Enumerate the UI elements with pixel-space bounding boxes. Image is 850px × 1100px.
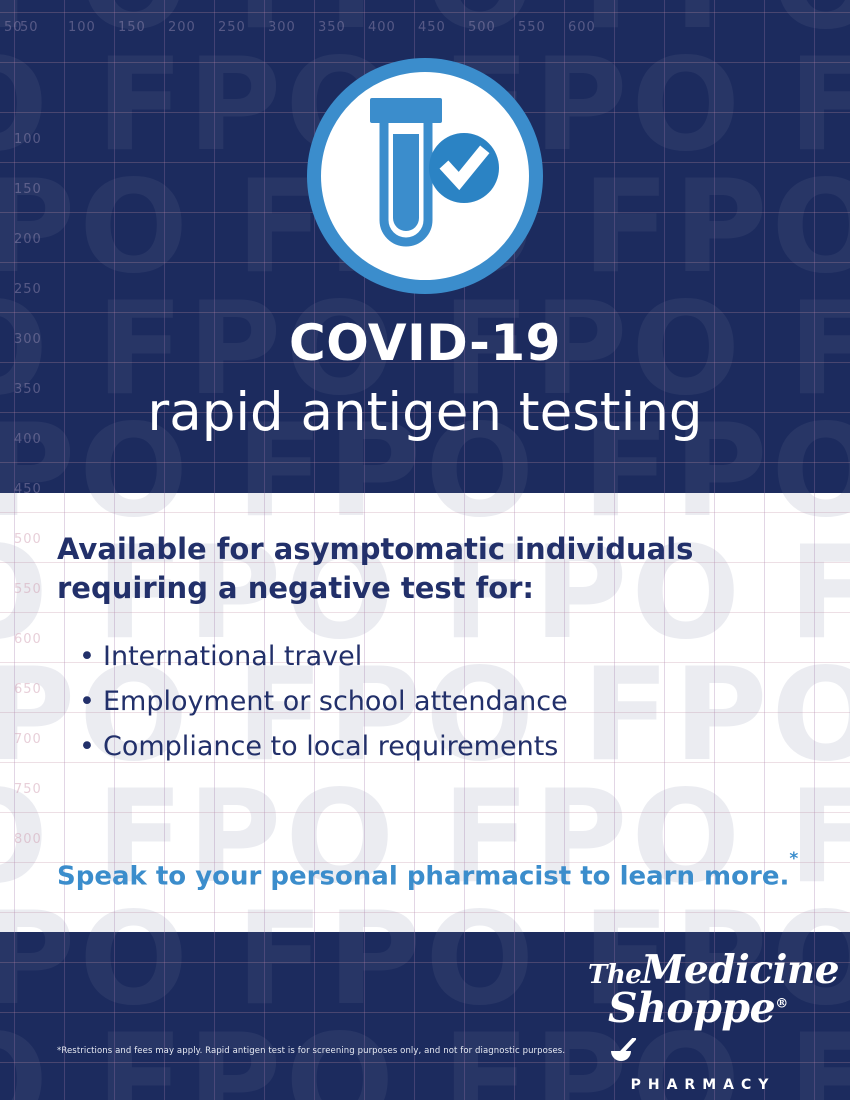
disclaimer-text: *Restrictions and fees may apply. Rapid … [57,1046,565,1056]
poster-canvas: FPOFPOFPOFPOFPOFPOFPOFPOFPOFPOFPOFPOFPOF… [0,0,850,1100]
page-title: COVID-19 [0,318,850,368]
brand-word-shoppe: Shoppe [608,984,775,1032]
bullet-marker-icon: • [79,634,95,679]
eligibility-bullet-list: •International travel•Employment or scho… [57,634,797,770]
list-item-label: Compliance to local requirements [103,731,558,762]
list-item-label: International travel [103,641,362,672]
list-item: •International travel [103,634,797,679]
list-item-label: Employment or school attendance [103,686,568,717]
test-tube-with-check-icon [307,58,543,294]
lead-line-1: Available for asymptomatic individuals [57,532,693,566]
list-item: •Employment or school attendance [103,679,797,724]
cta-text: Speak to your personal pharmacist to lea… [57,860,798,892]
brand-registered-mark: ® [775,996,788,1011]
hero-heading-block: COVID-19 rapid antigen testing [0,318,850,439]
bullet-marker-icon: • [79,724,95,769]
lead-paragraph: Available for asymptomatic individuals r… [57,530,797,608]
cta-footnote-marker: * [789,849,798,869]
cta-label: Speak to your personal pharmacist to lea… [57,862,789,892]
bullet-marker-icon: • [79,679,95,724]
body-content: Available for asymptomatic individuals r… [57,530,797,770]
brand-logo: TheMedicine Shoppe® PHARMACY [586,952,814,1093]
brand-line-2: Shoppe® [586,989,814,1070]
hero-badge-container [0,58,850,294]
list-item: •Compliance to local requirements [103,724,797,769]
brand-tagline: PHARMACY [586,1077,814,1093]
page-subtitle: rapid antigen testing [0,386,850,439]
mortar-and-pestle-icon [610,1031,640,1070]
lead-line-2: requiring a negative test for: [57,571,534,605]
